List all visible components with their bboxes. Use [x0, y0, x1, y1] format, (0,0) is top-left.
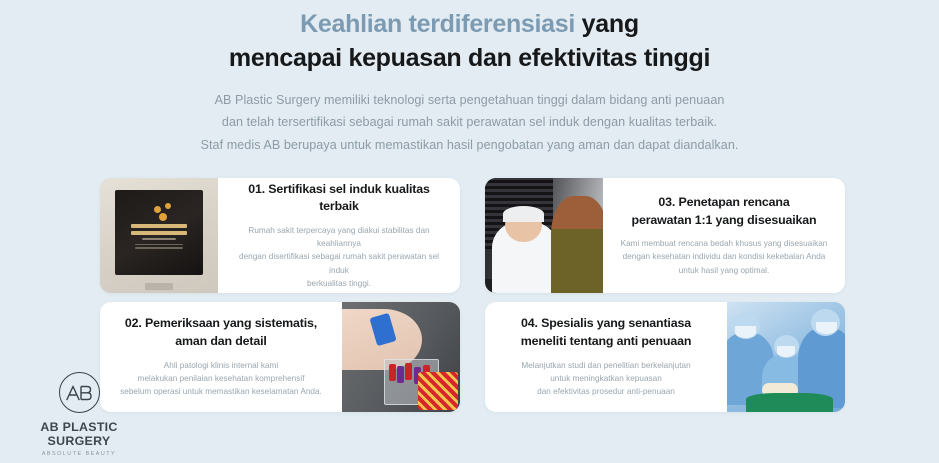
page-header: Keahlian terdiferensiasi yang mencapai k…: [0, 0, 939, 156]
feature-card-04-title: 04. Spesialis yang senantiasa meneliti t…: [499, 315, 713, 350]
feature-card-03-description: Kami membuat rencana bedah khusus yang d…: [617, 237, 831, 277]
blood-test-photo: [342, 302, 460, 412]
feature-card-02-description: Ahli patologi klinis internal kami melak…: [114, 359, 328, 399]
headline-rest: yang: [575, 10, 639, 38]
feature-card-01-description: Rumah sakit terpercaya yang diakui stabi…: [232, 224, 446, 290]
feature-card-01-title: 01. Sertifikasi sel induk kualitas terba…: [232, 181, 446, 216]
desc-line-3: untuk hasil yang optimal.: [617, 264, 831, 277]
surgical-team-photo: [727, 302, 845, 412]
doctor-consultation-photo: [485, 178, 603, 293]
desc-line-3: dan efektivitas prosedur anti-penuaan: [499, 385, 713, 398]
subcopy-line-3: Staf medis AB berupaya untuk memastikan …: [0, 134, 939, 156]
feature-card-04-title-line2: meneliti tentang anti penuaan: [499, 333, 713, 351]
desc-line-2: dengan kesehatan individu dan kondisi ke…: [617, 250, 831, 263]
feature-card-03-title: 03. Penetapan rencana perawatan 1:1 yang…: [617, 194, 831, 229]
feature-card-03-body: 03. Penetapan rencana perawatan 1:1 yang…: [603, 178, 845, 293]
ab-monogram-icon: [59, 372, 100, 413]
feature-card-02-title-line2: aman dan detail: [114, 333, 328, 351]
brand-name: AB PLASTIC SURGERY: [16, 420, 142, 448]
subcopy-line-2: dan telah tersertifikasi sebagai rumah s…: [0, 111, 939, 133]
feature-card-01-body: 01. Sertifikasi sel induk kualitas terba…: [218, 178, 460, 293]
headline-accent: Keahlian terdiferensiasi: [300, 10, 575, 38]
feature-card-02-title-line1: 02. Pemeriksaan yang sistematis,: [125, 316, 317, 330]
feature-card-04-description: Melanjutkan studi dan penelitian berkela…: [499, 359, 713, 399]
feature-card-04-title-line1: 04. Spesialis yang senantiasa: [521, 316, 691, 330]
desc-line-2: melakukan penilaian kesehatan komprehens…: [114, 372, 328, 385]
page-title: Keahlian terdiferensiasi yang mencapai k…: [0, 8, 939, 75]
desc-line-1: Rumah sakit terpercaya yang diakui stabi…: [232, 224, 446, 251]
desc-line-2: dengan disertifikasi sebagai rumah sakit…: [232, 250, 446, 277]
desc-line-1: Ahli patologi klinis internal kami: [114, 359, 328, 372]
headline-line2: mencapai kepuasan dan efektivitas tinggi: [0, 42, 939, 76]
feature-card-03[interactable]: 03. Penetapan rencana perawatan 1:1 yang…: [485, 178, 845, 293]
feature-card-02-title: 02. Pemeriksaan yang sistematis, aman da…: [114, 315, 328, 350]
feature-card-04[interactable]: 04. Spesialis yang senantiasa meneliti t…: [485, 302, 845, 412]
feature-card-03-title-line1: 03. Penetapan rencana: [658, 195, 789, 209]
page-subcopy: AB Plastic Surgery memiliki teknologi se…: [0, 89, 939, 156]
desc-line-3: berkualitas tinggi.: [232, 277, 446, 290]
desc-line-3: sebelum operasi untuk memastikan keselam…: [114, 385, 328, 398]
desc-line-2: untuk meningkatkan kepuasan: [499, 372, 713, 385]
brand-tagline: ABSOLUTE BEAUTY: [16, 451, 142, 457]
desc-line-1: Melanjutkan studi dan penelitian berkela…: [499, 359, 713, 372]
subcopy-line-1: AB Plastic Surgery memiliki teknologi se…: [0, 89, 939, 111]
feature-card-01[interactable]: 01. Sertifikasi sel induk kualitas terba…: [100, 178, 460, 293]
certification-plaque-photo: [100, 178, 218, 293]
feature-card-01-title-line1: 01. Sertifikasi sel induk kualitas terba…: [248, 182, 430, 214]
feature-card-grid: 01. Sertifikasi sel induk kualitas terba…: [100, 178, 845, 412]
brand-logo[interactable]: AB PLASTIC SURGERY ABSOLUTE BEAUTY: [16, 372, 142, 457]
feature-card-04-body: 04. Spesialis yang senantiasa meneliti t…: [485, 302, 727, 412]
feature-card-03-title-line2: perawatan 1:1 yang disesuaikan: [617, 212, 831, 230]
desc-line-1: Kami membuat rencana bedah khusus yang d…: [617, 237, 831, 250]
feature-card-02[interactable]: 02. Pemeriksaan yang sistematis, aman da…: [100, 302, 460, 412]
